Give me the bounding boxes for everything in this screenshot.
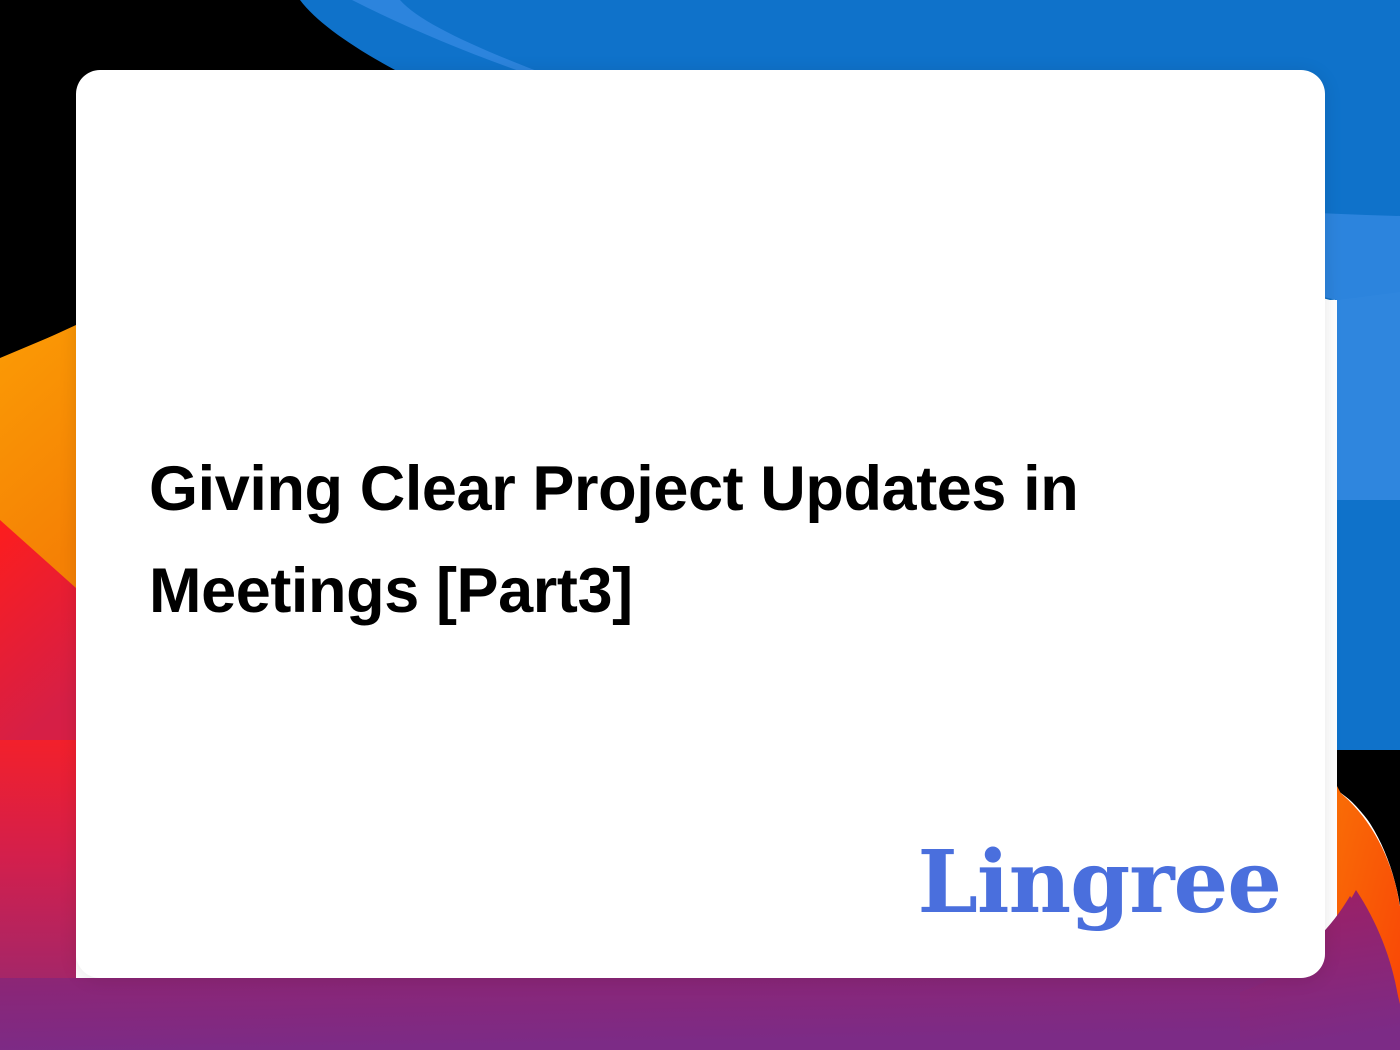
bg-blue-light-right-band — [1337, 292, 1400, 500]
page-title: Giving Clear Project Updates in Meetings… — [149, 438, 1159, 642]
brand-logo-lingree: Lingree — [917, 840, 1281, 926]
content-card: Giving Clear Project Updates in Meetings… — [76, 70, 1325, 978]
bg-blue-right-band — [1337, 500, 1400, 752]
slide-canvas: Giving Clear Project Updates in Meetings… — [0, 0, 1400, 1050]
